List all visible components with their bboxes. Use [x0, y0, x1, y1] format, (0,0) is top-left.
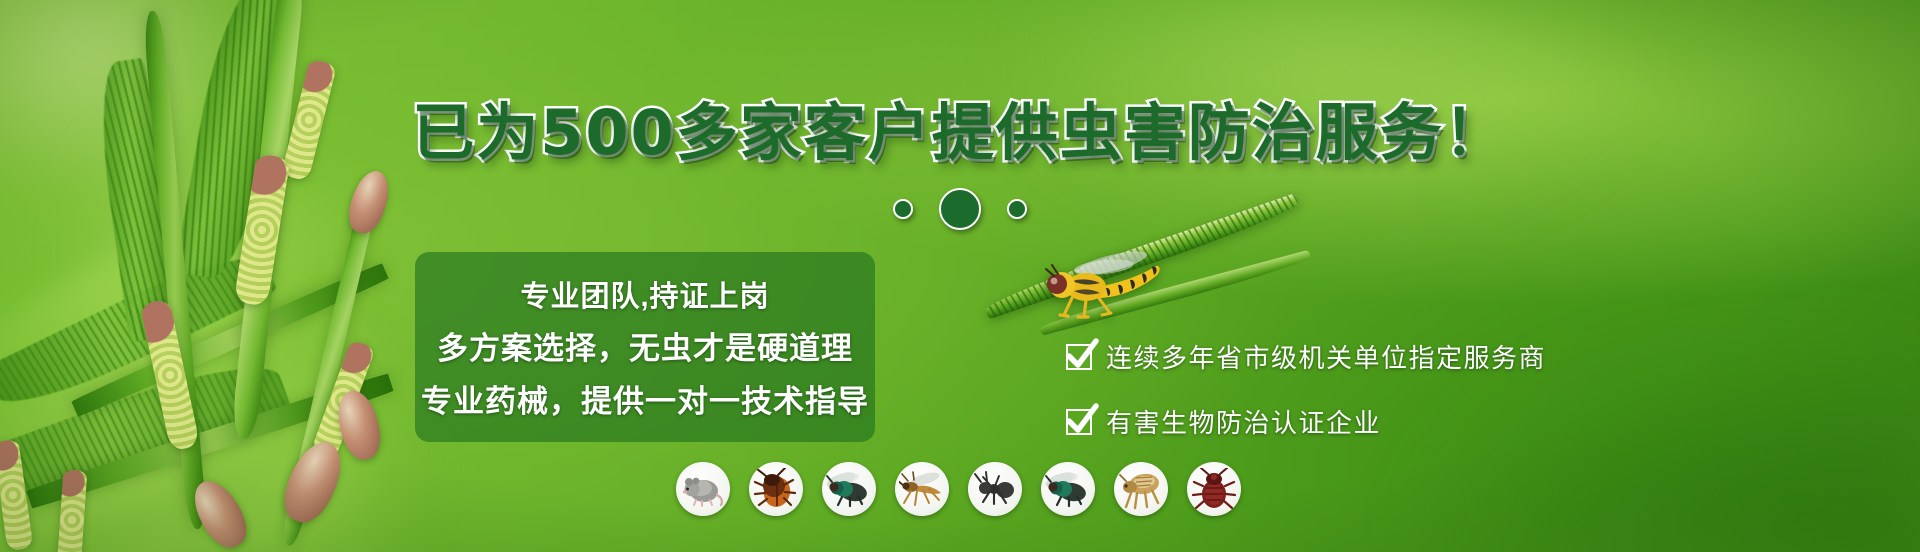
- flea-icon[interactable]: [1114, 462, 1168, 516]
- decor-dot-small-left: [893, 199, 913, 219]
- credential-item: 连续多年省市级机关单位指定服务商: [1066, 338, 1546, 375]
- bedbug-icon[interactable]: [1187, 462, 1241, 516]
- pest-icon-row: [676, 462, 1241, 516]
- decor-dot-large: [939, 188, 981, 230]
- cockroach-icon[interactable]: [749, 462, 803, 516]
- credential-list: 连续多年省市级机关单位指定服务商 有害生物防治认证企业: [1066, 338, 1546, 440]
- decor-dot-small-right: [1007, 199, 1027, 219]
- checkbox-checked-icon: [1066, 344, 1092, 370]
- promo-banner: 已为500多家客户提供虫害防治服务！ 专业团队,持证上岗 多方案选择，无虫才是硬…: [0, 0, 1920, 552]
- feature-panel: 专业团队,持证上岗 多方案选择，无虫才是硬道理 专业药械，提供一对一技术指导: [415, 252, 875, 442]
- fly-icon[interactable]: [1041, 462, 1095, 516]
- mosquito-icon[interactable]: [895, 462, 949, 516]
- fly-icon[interactable]: [822, 462, 876, 516]
- feature-panel-line-2: 多方案选择，无虫才是硬道理: [437, 323, 853, 368]
- decorative-dots: [0, 188, 1920, 230]
- feature-panel-line-3: 专业药械，提供一对一技术指导: [421, 376, 869, 421]
- credential-label: 连续多年省市级机关单位指定服务商: [1106, 338, 1546, 375]
- feature-panel-line-1: 专业团队,持证上岗: [520, 273, 769, 315]
- ant-icon[interactable]: [968, 462, 1022, 516]
- credential-item: 有害生物防治认证企业: [1066, 403, 1546, 440]
- rat-icon[interactable]: [676, 462, 730, 516]
- checkbox-checked-icon: [1066, 409, 1092, 435]
- credential-label: 有害生物防治认证企业: [1106, 403, 1381, 440]
